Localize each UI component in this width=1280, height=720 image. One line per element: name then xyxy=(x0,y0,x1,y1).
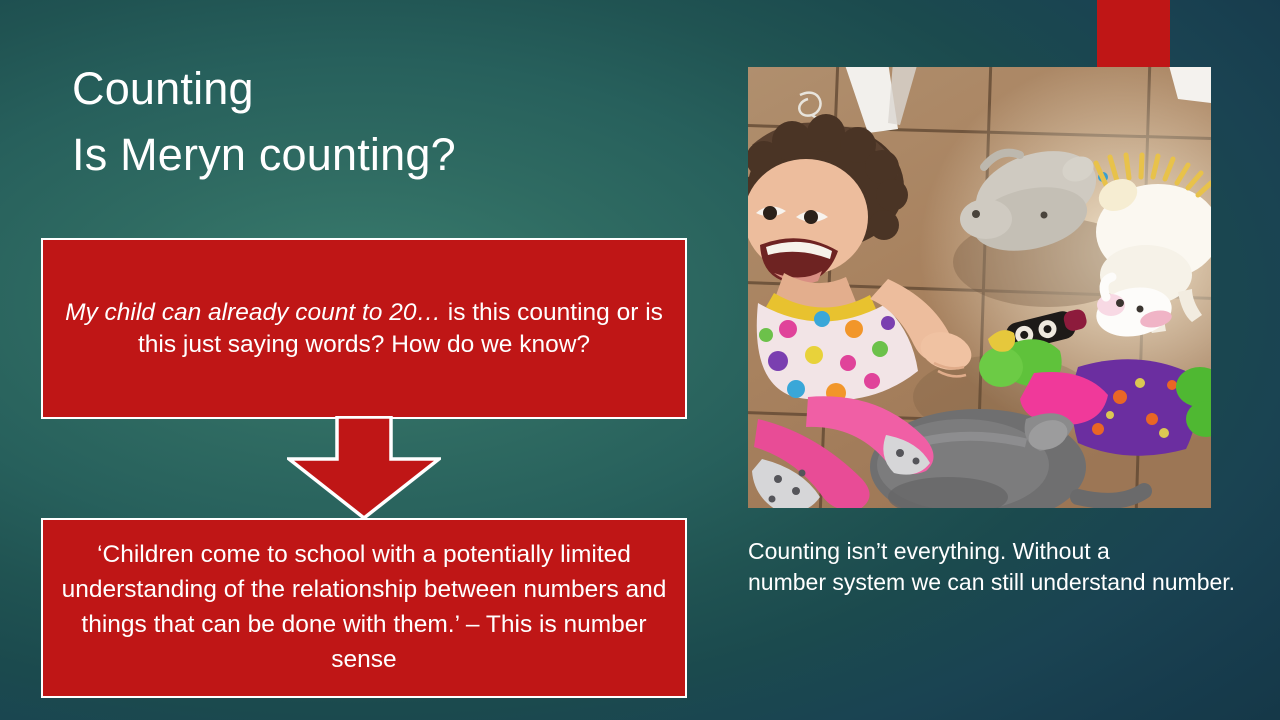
slide-canvas: Counting Is Meryn counting? My child can… xyxy=(0,0,1280,720)
top-right-red-accent-bar xyxy=(1097,0,1170,67)
caption-line-2: number system we can still understand nu… xyxy=(748,567,1276,598)
callout-box-quote: ‘Children come to school with a potentia… xyxy=(41,518,687,698)
callout-top-emphasis: My child can already count to 20… xyxy=(65,299,448,326)
callout-box-question: My child can already count to 20… is thi… xyxy=(41,238,687,419)
photo-caption: Counting isn’t everything. Without a num… xyxy=(748,536,1276,597)
callout-top-text: My child can already count to 20… is thi… xyxy=(43,297,685,361)
down-arrow-icon xyxy=(287,416,441,520)
caption-line-1: Counting isn’t everything. Without a xyxy=(748,536,1276,567)
photo-child-with-toys xyxy=(748,67,1211,508)
page-title: Counting xyxy=(72,56,672,122)
slide-title-block: Counting Is Meryn counting? xyxy=(72,56,672,187)
slide-subtitle: Is Meryn counting? xyxy=(72,122,672,188)
photo-illustration xyxy=(748,67,1211,508)
callout-bottom-text: ‘Children come to school with a potentia… xyxy=(43,538,685,677)
